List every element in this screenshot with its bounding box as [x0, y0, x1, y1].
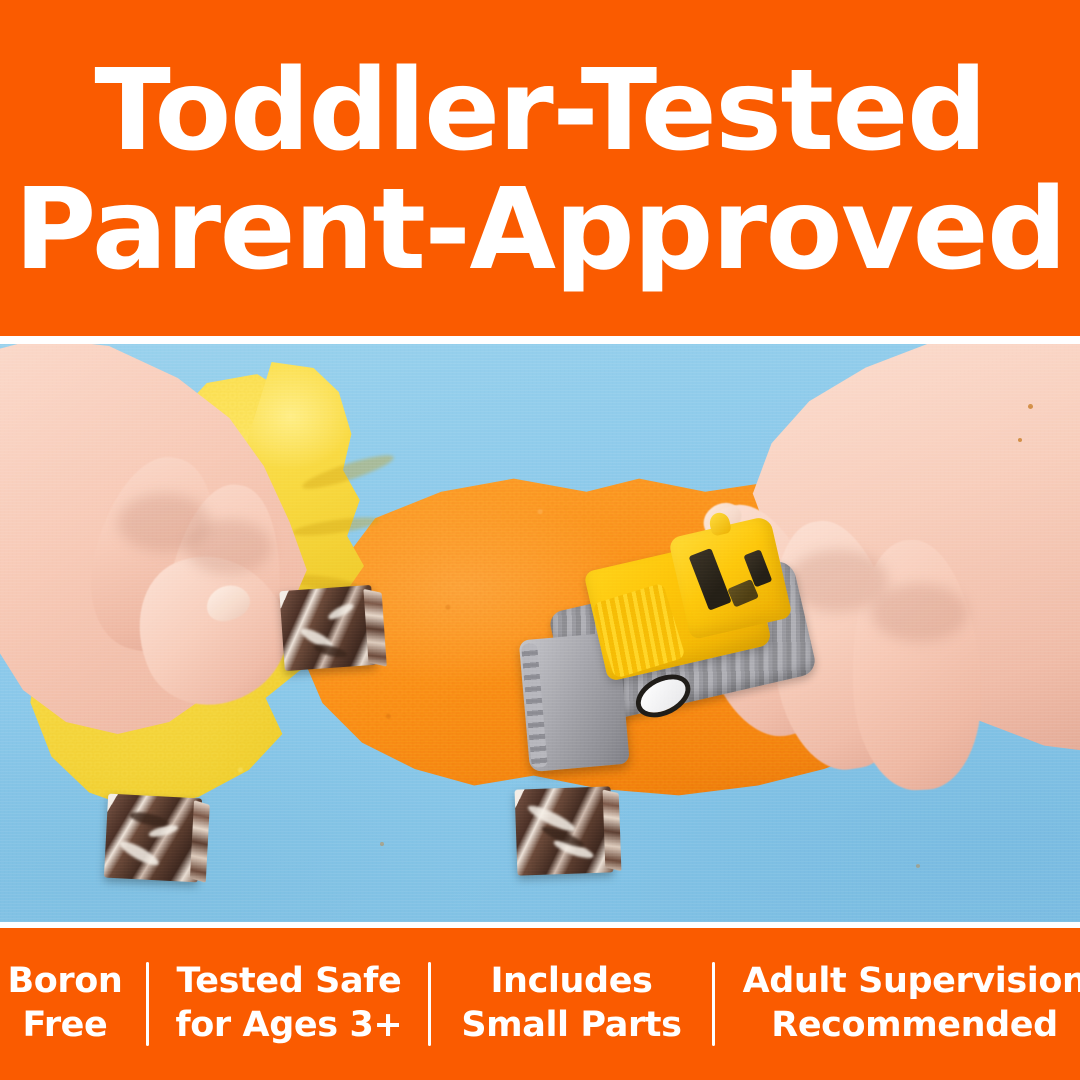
product-photo — [0, 344, 1080, 922]
feature-banner: Boron Free Tested Safe for Ages 3+ Inclu… — [0, 928, 1080, 1080]
feature-includes-small-parts: Includes Small Parts — [431, 960, 711, 1048]
headline-line-2: Parent-Approved — [14, 175, 1065, 286]
feature-adult-supervision: Adult Supervision Recommended — [715, 960, 1080, 1048]
headline-banner: Toddler-Tested Parent-Approved — [0, 0, 1080, 336]
headline-line-1: Toddler-Tested — [94, 56, 985, 167]
product-infographic-poster: Toddler-Tested Parent-Approved — [0, 0, 1080, 1080]
feature-tested-safe-ages: Tested Safe for Ages 3+ — [149, 960, 428, 1048]
photo-grain-overlay — [0, 344, 1080, 922]
feature-boron-free: Boron Free — [0, 960, 146, 1048]
